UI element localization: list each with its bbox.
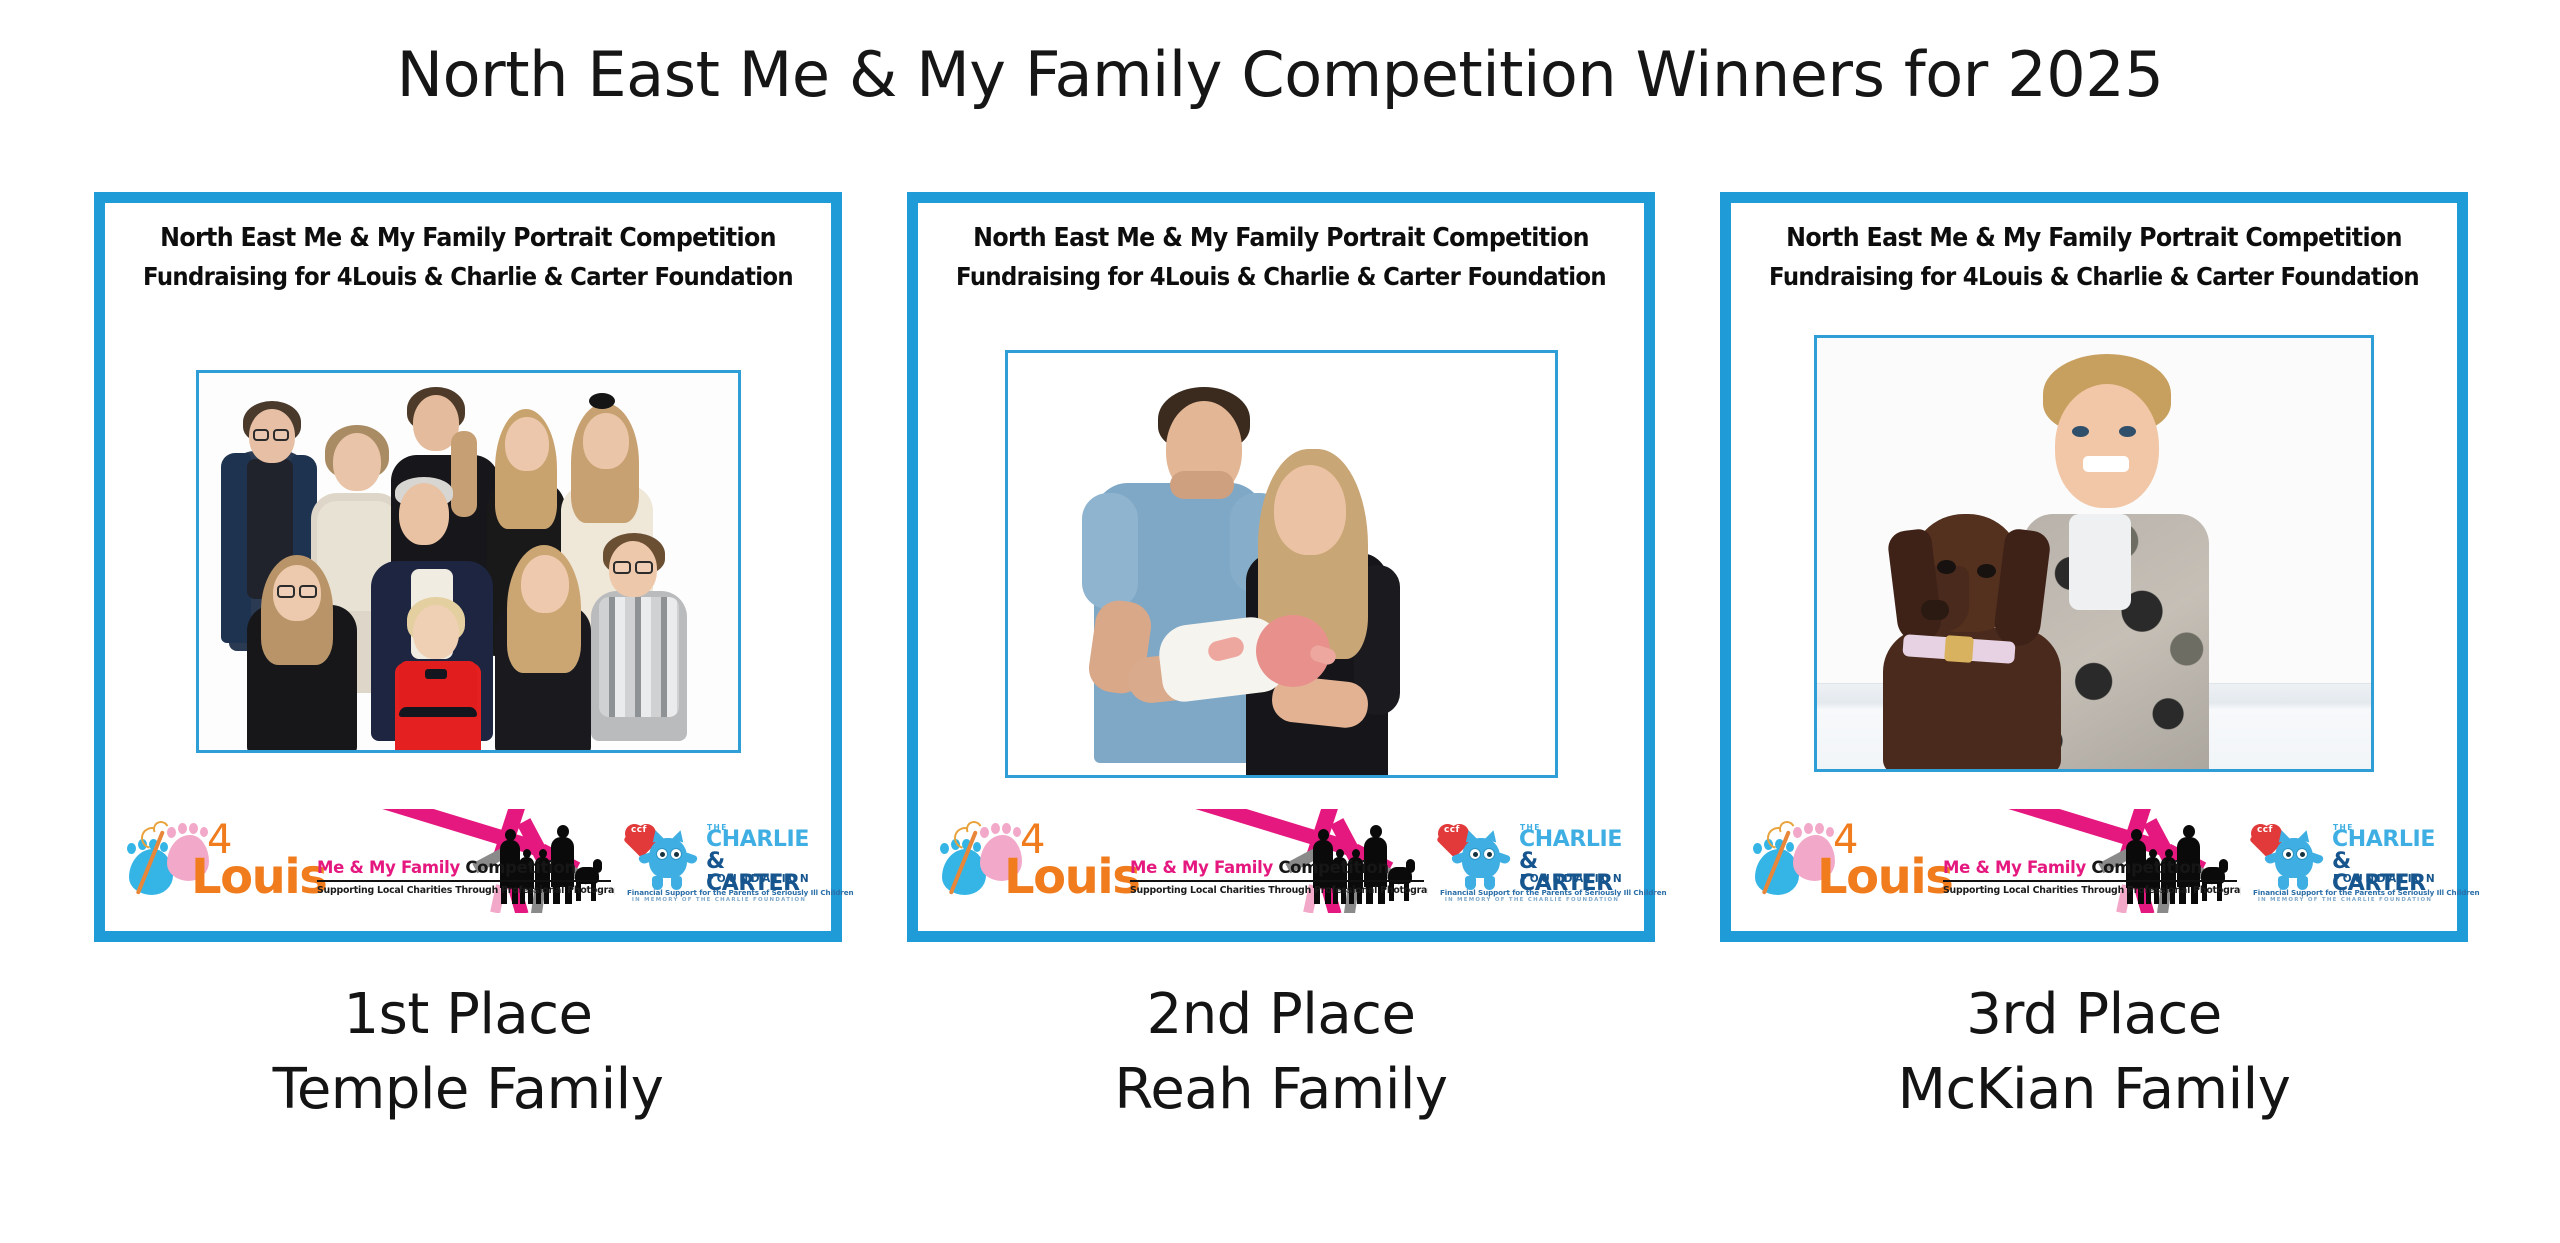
ccf-foundation-line: FOUNDATION [1520, 874, 1624, 885]
place-label: 3rd Place [1720, 985, 2468, 1044]
winner-caption-1st-place: 1st Place Temple Family [94, 985, 842, 1120]
photo-wrap [918, 350, 1644, 778]
ccf-monogram: ccf [631, 825, 647, 835]
print-header-line-1: North East Me & My Family Portrait Compe… [1766, 219, 2423, 258]
competition-tagline: Supporting Local Charities Through Profe… [317, 885, 615, 896]
place-label: 1st Place [94, 985, 842, 1044]
four-louis-wordmark: Louis [1004, 849, 1139, 905]
portrait-photo-1st-place [196, 370, 741, 753]
print-frame: North East Me & My Family Portrait Compe… [1720, 192, 2468, 942]
portrait-photo-2nd-place [1005, 350, 1558, 778]
portrait-photo-3rd-place [1814, 335, 2374, 772]
winner-caption-3rd-place: 3rd Place McKian Family [1720, 985, 2468, 1120]
charlie-and-carter-foundation-logo: ccf [1434, 814, 1626, 908]
winner-card-1st-place[interactable]: North East Me & My Family Portrait Compe… [94, 192, 842, 942]
winner-cards-row: North East Me & My Family Portrait Compe… [94, 192, 2468, 942]
ccf-charlie-line: CHARLIE [1519, 829, 1622, 851]
sponsor-logo-strip: 4 Louis [117, 807, 819, 915]
family-label: Reah Family [907, 1060, 1655, 1119]
four-louis-logo: 4 Louis [123, 813, 309, 909]
ccf-monogram: ccf [2257, 825, 2273, 835]
me-and-my-family-competition-logo: Me & My Family Competition Supporting Lo… [315, 809, 615, 913]
ccf-tagline-secondary: IN MEMORY OF THE CHARLIE FOUNDATION [1440, 897, 1624, 903]
competition-title-black: Competition [465, 858, 576, 877]
ccf-foundation-line: FOUNDATION [707, 874, 811, 885]
print-header-line-2: Fundraising for 4Louis & Charlie & Carte… [1766, 258, 2423, 295]
competition-rule [1943, 880, 2237, 882]
winners-poster: North East Me & My Family Competition Wi… [0, 0, 2560, 1243]
four-louis-wordmark: Louis [1817, 849, 1952, 905]
family-label: Temple Family [94, 1060, 842, 1119]
four-louis-logo: 4 Louis [1749, 813, 1935, 909]
sponsor-logo-strip: 4 Louis [930, 807, 1632, 915]
print-header-line-1: North East Me & My Family Portrait Compe… [140, 219, 797, 258]
competition-title-pink: Me & My Family [1943, 858, 2086, 877]
competition-title-black: Competition [1278, 858, 1389, 877]
four-louis-logo: 4 Louis [936, 813, 1122, 909]
charlie-and-carter-foundation-logo: ccf [621, 814, 813, 908]
competition-title: Me & My Family Competition [317, 858, 576, 877]
ccf-monogram: ccf [1444, 825, 1460, 835]
page-title: North East Me & My Family Competition Wi… [0, 38, 2560, 111]
ccf-foundation-line: FOUNDATION [2333, 874, 2437, 885]
ccf-tagline: Financial Support for the Parents of Ser… [2253, 888, 2437, 897]
competition-title-black: Competition [2091, 858, 2202, 877]
winner-caption-2nd-place: 2nd Place Reah Family [907, 985, 1655, 1120]
competition-tagline: Supporting Local Charities Through Profe… [1130, 885, 1428, 896]
ccf-tagline: Financial Support for the Parents of Ser… [1440, 888, 1624, 897]
print-frame: North East Me & My Family Portrait Compe… [94, 192, 842, 942]
print-header-line-2: Fundraising for 4Louis & Charlie & Carte… [140, 258, 797, 295]
competition-tagline: Supporting Local Charities Through Profe… [1943, 885, 2241, 896]
print-header: North East Me & My Family Portrait Compe… [918, 203, 1644, 295]
me-and-my-family-competition-logo: Me & My Family Competition Supporting Lo… [1941, 809, 2241, 913]
competition-rule [1130, 880, 1424, 882]
me-and-my-family-competition-logo: Me & My Family Competition Supporting Lo… [1128, 809, 1428, 913]
ccf-tagline: Financial Support for the Parents of Ser… [627, 888, 811, 897]
ccf-tagline-secondary: IN MEMORY OF THE CHARLIE FOUNDATION [2253, 897, 2437, 903]
competition-title-pink: Me & My Family [317, 858, 460, 877]
winner-card-2nd-place[interactable]: North East Me & My Family Portrait Compe… [907, 192, 1655, 942]
print-header: North East Me & My Family Portrait Compe… [105, 203, 831, 295]
competition-title-pink: Me & My Family [1130, 858, 1273, 877]
competition-title: Me & My Family Competition [1943, 858, 2202, 877]
print-header: North East Me & My Family Portrait Compe… [1731, 203, 2457, 295]
four-louis-wordmark: Louis [191, 849, 326, 905]
print-header-line-1: North East Me & My Family Portrait Compe… [953, 219, 1610, 258]
sponsor-logo-strip: 4 Louis [1743, 807, 2445, 915]
competition-title: Me & My Family Competition [1130, 858, 1389, 877]
photo-wrap [105, 370, 831, 753]
charlie-and-carter-foundation-logo: ccf [2247, 814, 2439, 908]
competition-rule [317, 880, 611, 882]
ccf-tagline-secondary: IN MEMORY OF THE CHARLIE FOUNDATION [627, 897, 811, 903]
print-header-line-2: Fundraising for 4Louis & Charlie & Carte… [953, 258, 1610, 295]
family-label: McKian Family [1720, 1060, 2468, 1119]
photo-wrap [1731, 335, 2457, 772]
place-label: 2nd Place [907, 985, 1655, 1044]
ccf-charlie-line: CHARLIE [2332, 829, 2435, 851]
ccf-charlie-line: CHARLIE [706, 829, 809, 851]
print-frame: North East Me & My Family Portrait Compe… [907, 192, 1655, 942]
winner-card-3rd-place[interactable]: North East Me & My Family Portrait Compe… [1720, 192, 2468, 942]
